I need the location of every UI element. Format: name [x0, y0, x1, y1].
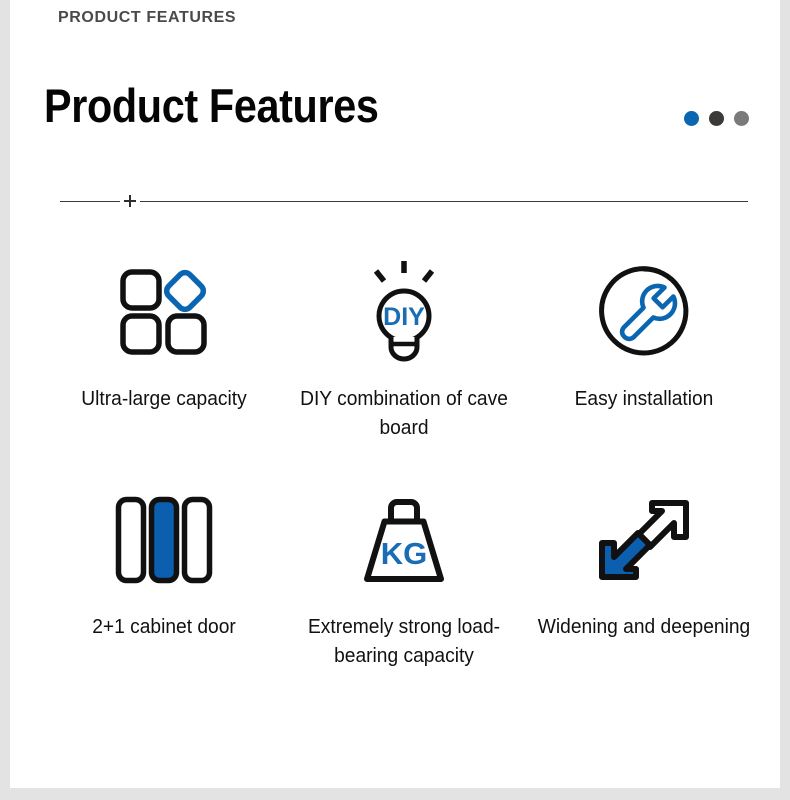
- feature-label: Easy installation: [534, 385, 755, 414]
- expand-arrows-icon: [584, 486, 704, 594]
- feature-label: 2+1 cabinet door: [54, 613, 275, 642]
- pager-dot-3[interactable]: [734, 111, 749, 126]
- divider-right-segment: [140, 201, 748, 202]
- feature-item-load-bearing: KG Extremely strong load-bearing capacit…: [284, 486, 524, 671]
- grid-squares-diamond-icon: [104, 258, 224, 363]
- features-grid: Ultra-large capacity DIY: [44, 258, 764, 671]
- lightbulb-diy-icon: DIY: [344, 258, 464, 363]
- feature-item-cabinet-door: 2+1 cabinet door: [44, 486, 284, 671]
- feature-item-ultra-large-capacity: Ultra-large capacity: [44, 258, 284, 443]
- pager-dot-2[interactable]: [709, 111, 724, 126]
- features-row-2: 2+1 cabinet door KG Extremely strong loa…: [44, 486, 764, 671]
- feature-label: Widening and deepening: [534, 613, 755, 642]
- features-row-1: Ultra-large capacity DIY: [44, 258, 764, 443]
- section-divider: [60, 201, 748, 202]
- feature-item-easy-installation: Easy installation: [524, 258, 764, 443]
- svg-text:KG: KG: [381, 536, 428, 571]
- wrench-circle-icon: [584, 258, 704, 363]
- eyebrow-heading: Product Features: [58, 8, 278, 28]
- feature-item-diy-combination: DIY DIY combination of cave board: [284, 258, 524, 443]
- weight-kg-icon: KG: [344, 486, 464, 594]
- pager-dot-1[interactable]: [684, 111, 699, 126]
- page-title: Product Features: [44, 78, 379, 133]
- svg-text:DIY: DIY: [383, 303, 425, 331]
- feature-label: Ultra-large capacity: [54, 385, 275, 414]
- three-doors-icon: [104, 486, 224, 594]
- pager-dots[interactable]: [681, 109, 761, 129]
- product-features-card: Product Features Product Features: [10, 0, 780, 788]
- feature-item-widening-deepening: Widening and deepening: [524, 486, 764, 671]
- plus-icon: [122, 193, 138, 209]
- feature-label: Extremely strong load-bearing capacity: [294, 613, 515, 671]
- divider-left-segment: [60, 201, 120, 202]
- feature-label: DIY combination of cave board: [294, 385, 515, 443]
